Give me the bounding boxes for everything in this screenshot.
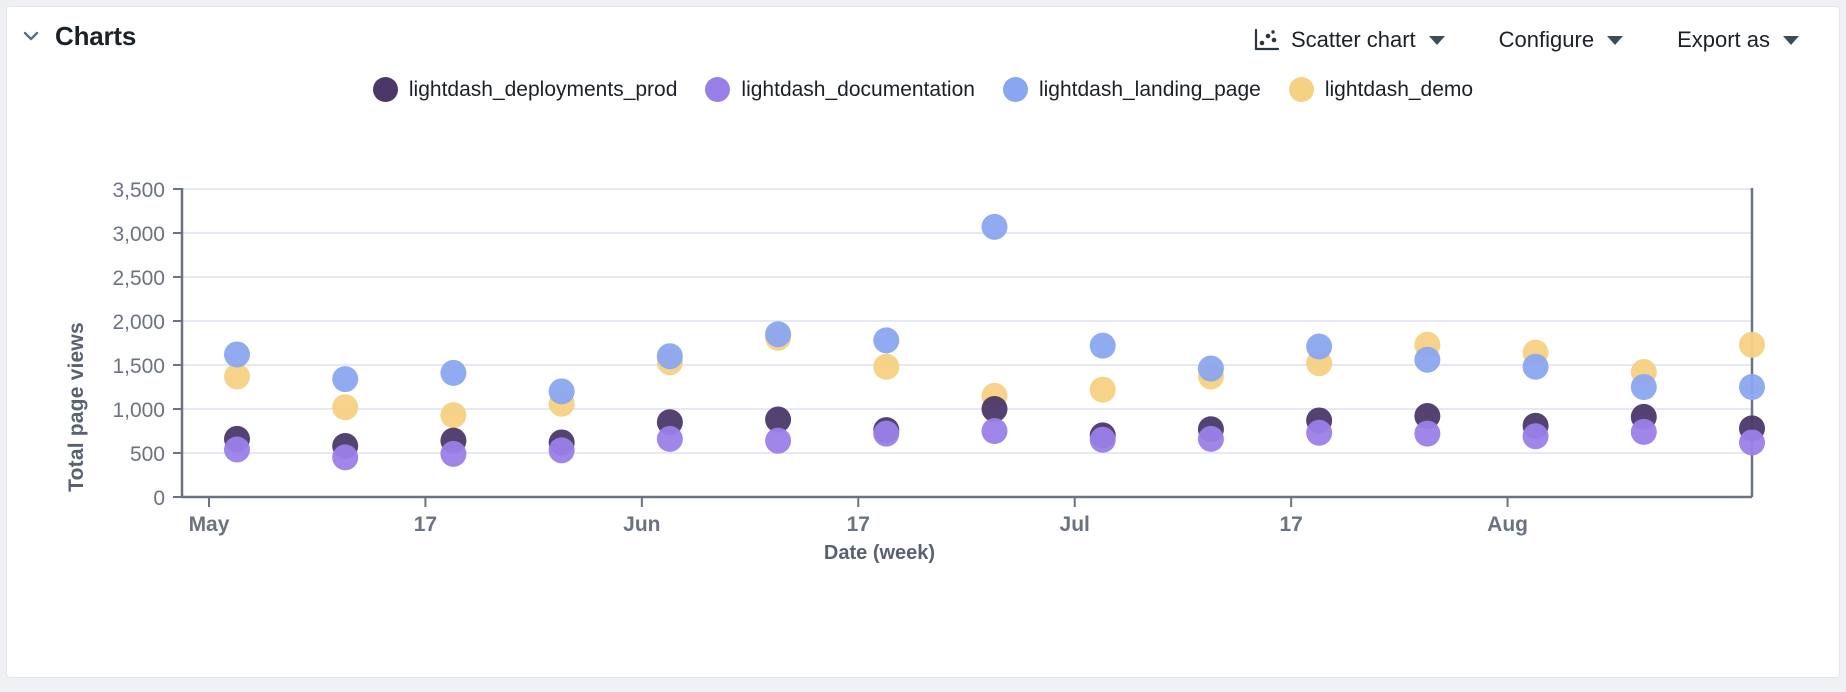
data-point[interactable]	[1414, 421, 1440, 447]
data-point[interactable]	[1090, 333, 1116, 359]
plot-area: Total page views Date (week) 05001,0001,…	[7, 127, 1839, 677]
data-point[interactable]	[549, 378, 575, 404]
legend-label: lightdash_deployments_prod	[409, 78, 678, 102]
data-point[interactable]	[1523, 423, 1549, 449]
legend-item-lightdash-demo[interactable]: lightdash_demo	[1289, 77, 1473, 102]
scatter-chart-icon	[1254, 28, 1280, 52]
data-point[interactable]	[982, 418, 1008, 444]
data-point[interactable]	[873, 327, 899, 353]
x-tick-label: Aug	[1487, 513, 1528, 536]
x-tick-label: 17	[414, 513, 437, 536]
x-tick-label: Jun	[623, 513, 660, 536]
legend-item-lightdash-deployments-prod[interactable]: lightdash_deployments_prod	[373, 77, 678, 102]
configure-label: Configure	[1499, 27, 1594, 53]
data-point[interactable]	[765, 428, 791, 454]
chevron-down-icon	[1607, 36, 1623, 45]
data-point[interactable]	[1090, 427, 1116, 453]
data-point[interactable]	[332, 366, 358, 392]
data-point[interactable]	[1306, 420, 1332, 446]
x-tick-label: May	[189, 513, 230, 536]
configure-button[interactable]: Configure	[1485, 25, 1637, 55]
scatter-plot-svg[interactable]: 05001,0001,5002,0002,5003,0003,500May17J…	[7, 127, 1840, 557]
y-tick-label: 3,000	[112, 223, 165, 246]
data-point[interactable]	[549, 437, 575, 463]
chevron-down-icon	[1783, 36, 1799, 45]
legend-item-lightdash-documentation[interactable]: lightdash_documentation	[705, 77, 975, 102]
data-point[interactable]	[332, 444, 358, 470]
data-point[interactable]	[1090, 377, 1116, 403]
y-tick-label: 1,000	[112, 399, 165, 422]
card-header: Charts Scatter chart Configure	[7, 7, 1839, 69]
export-as-label: Export as	[1677, 27, 1770, 53]
header-actions: Scatter chart Configure Export as	[1214, 25, 1813, 55]
data-point[interactable]	[1739, 332, 1765, 358]
data-point[interactable]	[224, 436, 250, 462]
data-point[interactable]	[1739, 374, 1765, 400]
export-as-button[interactable]: Export as	[1663, 25, 1813, 55]
y-tick-label: 2,500	[112, 267, 165, 290]
legend-swatch-icon	[1003, 77, 1028, 102]
data-point[interactable]	[1631, 419, 1657, 445]
x-tick-label: 17	[1279, 513, 1302, 536]
data-point[interactable]	[224, 341, 250, 367]
data-point[interactable]	[440, 402, 466, 428]
data-point[interactable]	[1198, 356, 1224, 382]
data-point[interactable]	[332, 394, 358, 420]
data-point[interactable]	[873, 354, 899, 380]
y-tick-label: 1,500	[112, 355, 165, 378]
legend-item-lightdash-landing-page[interactable]: lightdash_landing_page	[1003, 77, 1261, 102]
legend-label: lightdash_demo	[1325, 78, 1473, 102]
data-point[interactable]	[873, 421, 899, 447]
data-point[interactable]	[440, 360, 466, 386]
y-tick-label: 3,500	[112, 179, 165, 202]
title-group: Charts	[21, 23, 136, 49]
data-point[interactable]	[657, 426, 683, 452]
legend-label: lightdash_landing_page	[1039, 78, 1261, 102]
data-point[interactable]	[1306, 334, 1332, 360]
chevron-down-icon[interactable]	[21, 26, 41, 46]
data-point[interactable]	[1739, 429, 1765, 455]
data-point[interactable]	[1414, 347, 1440, 373]
chevron-down-icon	[1429, 36, 1445, 45]
data-point[interactable]	[657, 343, 683, 369]
chart-type-button[interactable]: Scatter chart	[1240, 25, 1459, 55]
data-point[interactable]	[1523, 354, 1549, 380]
page-title: Charts	[55, 23, 136, 49]
chart-legend: lightdash_deployments_prod lightdash_doc…	[7, 77, 1839, 102]
charts-card: Charts Scatter chart Configure	[6, 6, 1840, 678]
legend-swatch-icon	[373, 77, 398, 102]
x-tick-label: 17	[847, 513, 870, 536]
legend-swatch-icon	[1289, 77, 1314, 102]
data-point[interactable]	[1198, 426, 1224, 452]
data-point[interactable]	[440, 441, 466, 467]
legend-label: lightdash_documentation	[741, 78, 975, 102]
y-tick-label: 2,000	[112, 311, 165, 334]
x-tick-label: Jul	[1060, 513, 1090, 536]
data-point[interactable]	[1631, 374, 1657, 400]
y-tick-label: 0	[153, 487, 165, 510]
chart-type-label: Scatter chart	[1291, 27, 1416, 53]
data-point[interactable]	[982, 214, 1008, 240]
data-point[interactable]	[765, 321, 791, 347]
legend-swatch-icon	[705, 77, 730, 102]
y-tick-label: 500	[130, 443, 165, 466]
